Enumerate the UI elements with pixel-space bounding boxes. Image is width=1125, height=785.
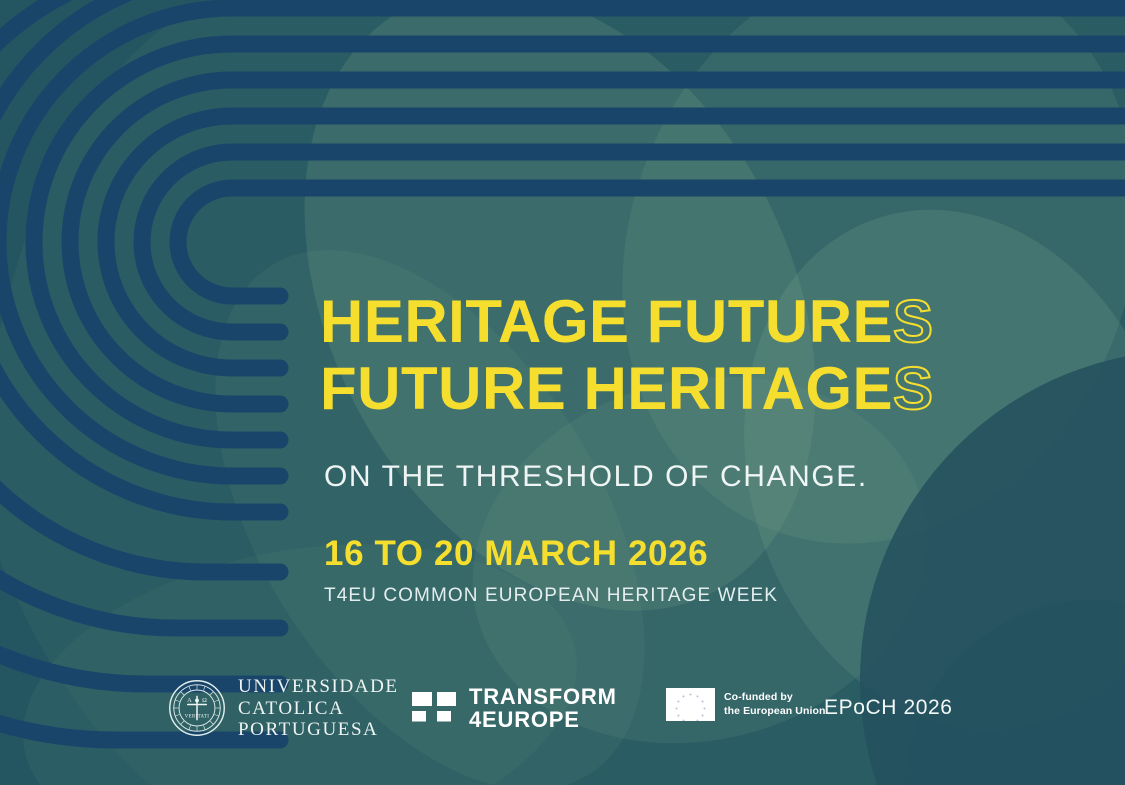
t4e-line-1: TRANSFORM — [469, 686, 617, 709]
headline-line-2: FUTURE HERITAGES — [320, 355, 1020, 422]
ucp-seal-motto: VERITATI — [185, 715, 209, 720]
t4e-line-2: 4EUROPE — [469, 709, 617, 732]
headline-line-1: HERITAGE FUTURES — [320, 288, 1020, 355]
svg-text:Ω: Ω — [202, 698, 207, 705]
ucp-line-3: PORTUGUESA — [238, 719, 399, 741]
transform4europe-wordmark: TRANSFORM 4EUROPE — [469, 686, 617, 732]
svg-text:A: A — [187, 698, 192, 705]
t4e-square-top-left — [412, 692, 432, 707]
epoch-label: EPoCH 2026 — [824, 696, 953, 720]
logo-co-funded-by-eu: Co-funded by the European Union — [666, 688, 826, 721]
ucp-seal-icon: A Ω VERITATI — [168, 679, 226, 737]
sponsor-logo-bar: A Ω VERITATI UNIVERSIDADE CATOLICA PORTU… — [0, 672, 1125, 762]
ucp-line-1: UNIVERSIDADE — [238, 676, 399, 698]
event-dates: 16 TO 20 MARCH 2026 — [324, 534, 1020, 574]
event-subtitle: T4EU COMMON EUROPEAN HERITAGE WEEK — [324, 585, 1020, 607]
logo-universidade-catolica-portuguesa: A Ω VERITATI UNIVERSIDADE CATOLICA PORTU… — [168, 676, 399, 741]
poster-text-block: HERITAGE FUTURES FUTURE HERITAGES ON THE… — [320, 288, 1020, 607]
headline-line-2-outline-s: S — [893, 355, 934, 422]
t4e-square-top-right — [437, 692, 457, 707]
tagline: ON THE THRESHOLD OF CHANGE. — [324, 460, 1020, 494]
ucp-wordmark: UNIVERSIDADE CATOLICA PORTUGUESA — [238, 676, 399, 741]
poster-canvas: HERITAGE FUTURES FUTURE HERITAGES ON THE… — [0, 0, 1125, 785]
logo-epoch-2026: EPoCH 2026 — [824, 696, 953, 720]
headline-line-2-main: FUTURE HERITAGE — [320, 355, 893, 422]
headline-line-1-main: HERITAGE FUTURE — [320, 288, 893, 355]
eu-line-1: Co-funded by — [724, 691, 826, 705]
t4e-square-bottom-left — [412, 711, 426, 721]
ucp-line-2: CATOLICA — [238, 698, 399, 720]
eu-funding-text: Co-funded by the European Union — [724, 691, 826, 719]
headline-line-1-outline-s: S — [893, 288, 934, 355]
logo-transform4europe: TRANSFORM 4EUROPE — [412, 686, 617, 732]
eu-line-2: the European Union — [724, 705, 826, 719]
arc-band-5 — [178, 188, 1125, 296]
t4e-square-bottom-right — [437, 711, 451, 721]
eu-flag-icon — [666, 688, 715, 721]
transform4europe-squares-icon — [412, 692, 456, 726]
